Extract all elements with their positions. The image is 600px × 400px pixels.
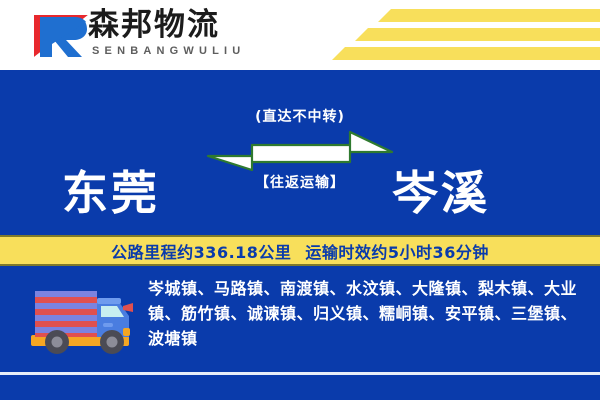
- destination-city: 岑溪: [392, 170, 490, 216]
- coverage-section: 岑城镇、马路镇、南渡镇、水汶镇、大隆镇、梨木镇、大业镇、筋竹镇、诚谏镇、归义镇、…: [0, 268, 600, 372]
- brand-name-en: SENBANGWULIU: [92, 45, 245, 57]
- bidirectional-arrow-icon: [200, 130, 400, 172]
- logistics-route-banner: 森邦物流 SENBANGWULIU 东莞 (直达不中转) 【往返运输】 岑溪 公…: [0, 0, 600, 400]
- stripe-2: [355, 28, 600, 41]
- senbang-r-logo-icon: [30, 11, 92, 59]
- yellow-stripes-decoration-icon: [340, 0, 600, 70]
- delivery-truck-icon: [27, 282, 139, 358]
- header-bar: 森邦物流 SENBANGWULIU: [0, 0, 600, 70]
- route-middle-group: (直达不中转) 【往返运输】: [200, 108, 400, 192]
- stripe-3: [332, 47, 600, 60]
- route-info-bar: 公路里程约336.18公里 运输时效约5小时36分钟: [0, 235, 600, 266]
- footer-bar: [0, 375, 600, 400]
- duration-text: 运输时效约5小时36分钟: [305, 239, 488, 263]
- roundtrip-note: 【往返运输】: [200, 174, 400, 192]
- direct-route-note: (直达不中转): [200, 108, 400, 126]
- origin-city: 东莞: [62, 170, 160, 216]
- covered-towns-list: 岑城镇、马路镇、南渡镇、水汶镇、大隆镇、梨木镇、大业镇、筋竹镇、诚谏镇、归义镇、…: [148, 276, 588, 351]
- brand-name-cn: 森邦物流: [88, 6, 220, 44]
- route-banner: 东莞 (直达不中转) 【往返运输】 岑溪: [0, 70, 600, 235]
- stripe-1: [378, 9, 600, 22]
- distance-text: 公路里程约336.18公里: [111, 239, 291, 263]
